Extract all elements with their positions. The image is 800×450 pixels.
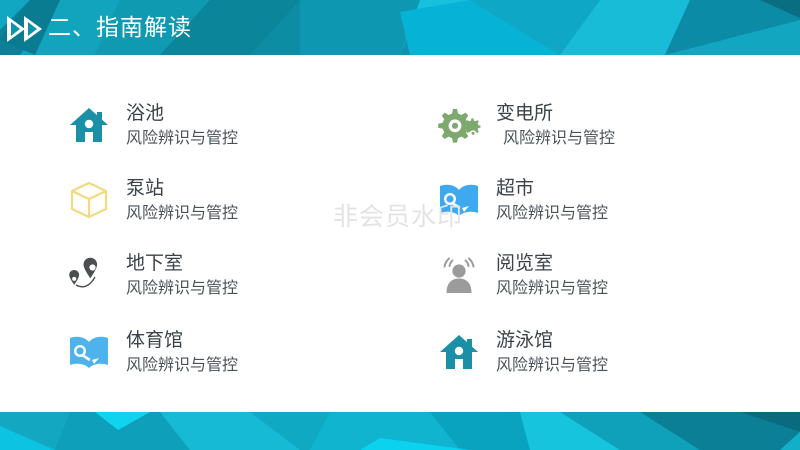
list-item-title: 变电所	[496, 101, 615, 126]
right-column: 变电所 风险辨识与管控 超市 风险辨识	[436, 55, 796, 412]
list-item-subtitle: 风险辨识与管控	[126, 126, 238, 150]
list-item-reading-room[interactable]: 阅览室 风险辨识与管控	[436, 250, 608, 312]
list-item-title: 超市	[496, 176, 608, 201]
header-band: 二、指南解读	[0, 0, 800, 55]
list-item-subtitle: 风险辨识与管控	[496, 353, 608, 377]
list-item-pump-station[interactable]: 泵站 风险辨识与管控	[66, 175, 238, 237]
slide-canvas: 二、指南解读 浴池 风险辨识与管控	[0, 0, 800, 450]
footer-band	[0, 412, 800, 450]
list-item-title: 地下室	[126, 251, 238, 276]
list-item-title: 游泳馆	[496, 328, 608, 353]
list-item-subtitle: 风险辨识与管控	[496, 126, 615, 150]
left-column: 浴池 风险辨识与管控 泵站 风险辨识与管控	[66, 55, 426, 412]
list-item-title: 泵站	[126, 176, 238, 201]
list-item-subtitle: 风险辨识与管控	[126, 353, 238, 377]
content-area: 浴池 风险辨识与管控 泵站 风险辨识与管控	[0, 55, 800, 412]
gears-icon	[436, 102, 482, 148]
list-item-swimming-pool[interactable]: 游泳馆 风险辨识与管控	[436, 327, 608, 389]
open-book-search-icon	[436, 177, 482, 223]
page-title: 二、指南解读	[48, 12, 192, 44]
list-item-title: 阅览室	[496, 251, 608, 276]
list-item-title: 浴池	[126, 101, 238, 126]
list-item-subtitle: 风险辨识与管控	[496, 276, 608, 300]
list-item-substation[interactable]: 变电所 风险辨识与管控	[436, 100, 615, 162]
house-icon	[66, 102, 112, 148]
footer-polygon-background	[0, 412, 800, 450]
map-pins-route-icon	[66, 252, 112, 298]
list-item-subtitle: 风险辨识与管控	[126, 276, 238, 300]
list-item-bathhouse[interactable]: 浴池 风险辨识与管控	[66, 100, 238, 162]
list-item-subtitle: 风险辨识与管控	[496, 201, 608, 225]
list-item-subtitle: 风险辨识与管控	[126, 201, 238, 225]
list-item-gymnasium[interactable]: 体育馆 风险辨识与管控	[66, 327, 238, 389]
list-item-supermarket[interactable]: 超市 风险辨识与管控	[436, 175, 608, 237]
open-book-search-icon	[66, 329, 112, 375]
list-item-title: 体育馆	[126, 328, 238, 353]
house-icon	[436, 329, 482, 375]
cube-box-icon	[66, 177, 112, 223]
list-item-basement[interactable]: 地下室 风险辨识与管控	[66, 250, 238, 312]
person-signal-icon	[436, 252, 482, 298]
play-triangle-logo-icon	[5, 14, 45, 44]
